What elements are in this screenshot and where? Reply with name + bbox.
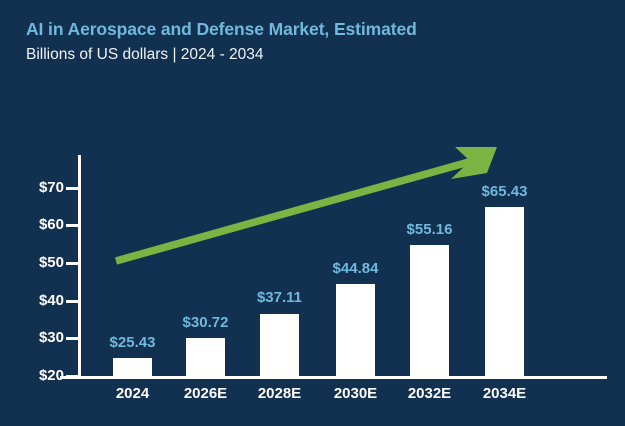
y-axis-tick-mark	[66, 300, 79, 303]
y-axis-tick-mark	[66, 262, 79, 265]
bar-2026E[interactable]	[186, 338, 225, 378]
chart-plot-area: $20$30$40$50$60$70 $25.432024$30.722026E…	[0, 0, 625, 426]
y-axis-tick-mark	[66, 337, 79, 340]
bar-2032E[interactable]	[410, 245, 449, 378]
bar-2024[interactable]	[113, 358, 152, 378]
bar-2030E[interactable]	[336, 284, 375, 378]
y-axis-tick-label: $20	[18, 367, 64, 384]
y-axis-tick-label: $70	[18, 179, 64, 196]
y-axis-tick-2: $40	[0, 292, 64, 310]
bar-value-label: $65.43	[465, 183, 545, 200]
y-axis-tick-mark	[66, 375, 79, 378]
x-axis-label-2028E: 2028E	[240, 385, 320, 402]
y-axis-tick-label: $60	[18, 216, 64, 233]
bar-value-label: $37.11	[240, 289, 320, 306]
x-axis-label-2026E: 2026E	[166, 385, 246, 402]
y-axis-tick-mark	[66, 224, 79, 227]
x-axis-label-2032E: 2032E	[390, 385, 470, 402]
bar-value-label: $25.43	[93, 334, 173, 351]
y-axis-tick-label: $40	[18, 292, 64, 309]
y-axis-tick-0: $20	[0, 367, 64, 385]
bar-2028E[interactable]	[260, 314, 299, 379]
upward-trend-arrow-icon	[0, 0, 625, 426]
y-axis-tick-label: $30	[18, 329, 64, 346]
x-axis-label-2030E: 2030E	[316, 385, 396, 402]
bar-2034E[interactable]	[485, 207, 524, 378]
bar-value-label: $44.84	[316, 260, 396, 277]
bar-value-label: $55.16	[390, 221, 470, 238]
x-axis-label-2024: 2024	[93, 385, 173, 402]
y-axis-tick-label: $50	[18, 254, 64, 271]
infographic-root: AI in Aerospace and Defense Market, Esti…	[0, 0, 625, 426]
bar-value-label: $30.72	[166, 314, 246, 331]
y-axis-tick-4: $60	[0, 216, 64, 234]
y-axis-tick-1: $30	[0, 329, 64, 347]
y-axis-tick-mark	[66, 187, 79, 190]
y-axis-tick-3: $50	[0, 254, 64, 272]
x-axis-label-2034E: 2034E	[465, 385, 545, 402]
y-axis-tick-5: $70	[0, 179, 64, 197]
